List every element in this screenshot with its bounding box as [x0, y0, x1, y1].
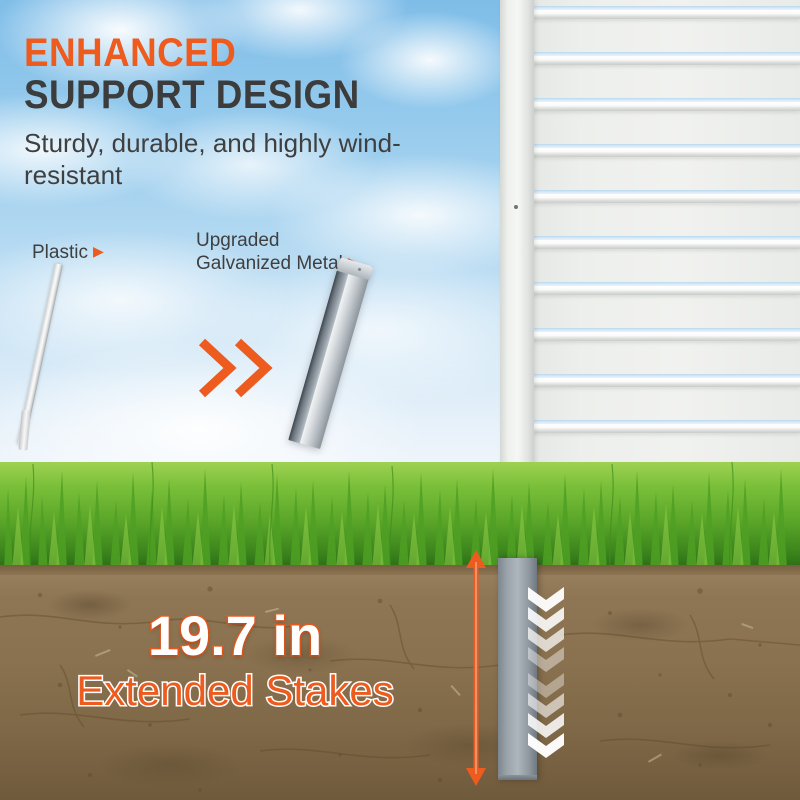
ground-stake-cap	[498, 775, 537, 780]
fence-slat	[532, 56, 800, 65]
fence-slat	[532, 424, 800, 433]
measurement-callout: 19.7 in Extended Stakes	[0, 608, 470, 712]
fence-slat	[532, 148, 800, 157]
metal-stake-label: Upgraded Galvanized Metal▶	[196, 230, 359, 276]
plastic-stake-label: Plastic▶	[32, 242, 104, 265]
upgrade-chevrons	[196, 336, 276, 400]
grass-band	[0, 462, 800, 570]
metal-label-line1: Upgraded	[196, 230, 359, 253]
fence-panel	[500, 0, 800, 482]
fence-slat	[532, 378, 800, 387]
fence-post	[500, 0, 534, 482]
chevron-right-icon	[202, 342, 266, 394]
fence-slat	[532, 10, 800, 19]
product-feature-image: ENHANCED SUPPORT DESIGN Sturdy, durable,…	[0, 0, 800, 800]
metal-label-line2-wrap: Galvanized Metal▶	[196, 253, 359, 276]
metal-label-line2: Galvanized Metal	[196, 253, 343, 274]
fence-slat	[532, 332, 800, 341]
fence-slat	[532, 102, 800, 111]
plastic-label-text: Plastic	[32, 242, 88, 263]
pointer-right-icon: ▶	[93, 243, 104, 259]
fence-slat	[532, 240, 800, 249]
chevron-down-icon	[528, 587, 564, 758]
headline-line2: SUPPORT DESIGN	[24, 75, 456, 116]
headline-line1: ENHANCED	[24, 34, 456, 73]
measurement-caption: Extended Stakes	[0, 670, 470, 712]
fence-post-screw	[514, 205, 518, 209]
downward-chevron-stack	[524, 585, 568, 760]
grass-blades-icon	[0, 462, 800, 570]
headline-block: ENHANCED SUPPORT DESIGN Sturdy, durable,…	[24, 34, 494, 191]
headline-subtitle: Sturdy, durable, and highly wind-resista…	[24, 128, 424, 191]
measurement-value: 19.7 in	[0, 608, 470, 664]
fence-slat	[532, 286, 800, 295]
fence-slat	[532, 194, 800, 203]
